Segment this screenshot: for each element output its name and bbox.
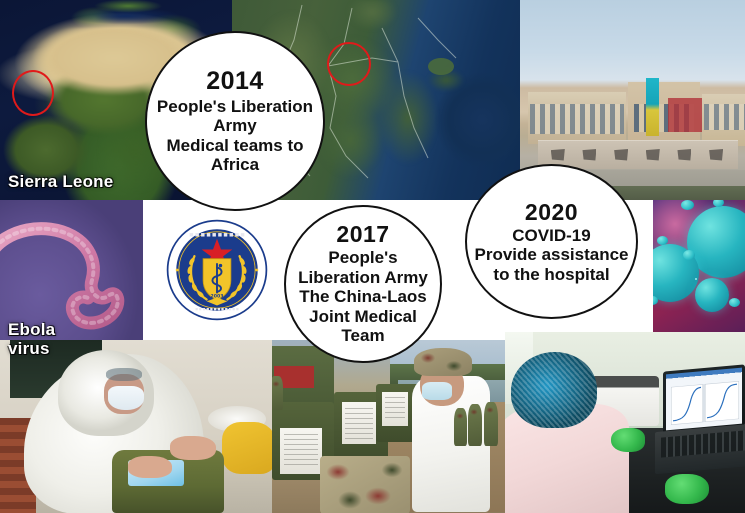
emblem-graphic: ■ ■ ■ ■ ■ ■ ■ ■ ■ ■ ■ ■ ■ ■ ■ ■ ■ ■ ■ ■ … (165, 218, 269, 322)
spike-protein (683, 250, 695, 260)
laptop-keyboard (655, 424, 745, 474)
virion-small (695, 278, 729, 312)
hainan-island (428, 58, 454, 75)
callout-2017[interactable]: 2017 People's Liberation Army The China-… (284, 205, 442, 363)
hospital-red-banner (668, 98, 702, 132)
spike-protein (729, 298, 740, 307)
hospital-left-wing (528, 92, 626, 144)
soldier-figure (454, 408, 467, 446)
camouflage-cap (414, 348, 472, 376)
soldier-figure (484, 402, 498, 446)
green-glove-right (611, 428, 645, 452)
green-glove-left (665, 474, 709, 504)
blue-hair-net (511, 352, 597, 428)
laos-highlight-circle (327, 42, 371, 86)
callout-2014[interactable]: 2014 People's Liberation Army Medical te… (145, 31, 325, 211)
spike-protein (653, 296, 658, 305)
china-laos-field-team-photo (272, 340, 505, 513)
pla-medical-institute-emblem: ■ ■ ■ ■ ■ ■ ■ ■ ■ ■ ■ ■ ■ ■ ■ ■ ■ ■ ■ ■ … (143, 200, 290, 340)
yellow-biohazard-bag (222, 422, 272, 474)
soldier-figure (468, 404, 482, 446)
analysis-curve-graph (671, 381, 739, 425)
slide-canvas: Sierra Leone (0, 0, 745, 513)
svg-text:■ ■ ■ ■ ■ ■ ■ ■ ■ ■ ■ ■: ■ ■ ■ ■ ■ ■ ■ ■ ■ ■ ■ ■ (195, 307, 239, 311)
soldier-figure (272, 376, 283, 410)
callout-2014-year: 2014 (206, 68, 264, 95)
callout-2020-year: 2020 (525, 199, 578, 225)
hospital-right-wing (702, 94, 745, 146)
ebola-virus-micrograph (0, 200, 143, 340)
callout-2020-text: COVID-19 Provide assistance to the hospi… (452, 226, 652, 285)
sierra-leone-label: Sierra Leone (8, 172, 113, 191)
gloved-hand-right (170, 436, 216, 460)
callout-2020[interactable]: 2020 COVID-19 Provide assistance to the … (465, 164, 638, 319)
spike-protein (657, 236, 668, 245)
hospital-vertical-banner (646, 78, 659, 136)
svg-text:■ ■ ■ ■ ■ ■ ■ ■ ■ ■: ■ ■ ■ ■ ■ ■ ■ ■ ■ ■ (189, 233, 244, 238)
laboratory-technician-photo (505, 332, 745, 513)
document-sheet (280, 428, 322, 474)
gloved-hand-left (128, 456, 172, 478)
ebola-virus-label: Ebola virus (8, 320, 55, 358)
coronavirus-render (653, 200, 745, 332)
callout-2014-text: People's Liberation Army Medical teams t… (129, 97, 341, 175)
sierra-leone-highlight-circle (12, 70, 54, 116)
hospital-sign-characters (542, 145, 732, 163)
protective-goggles (106, 368, 142, 381)
callout-2017-year: 2017 (336, 222, 389, 247)
callout-2017-text: People's Liberation Army The China-Laos … (275, 248, 451, 346)
europe-coast (88, 0, 168, 14)
spike-protein (681, 200, 694, 210)
document-sheet (382, 392, 408, 426)
camouflage-field-case (320, 456, 410, 513)
face-mask (108, 386, 144, 410)
document-sheet (342, 402, 376, 444)
surgical-mask (422, 382, 452, 400)
ppe-technician-photo (0, 340, 272, 513)
